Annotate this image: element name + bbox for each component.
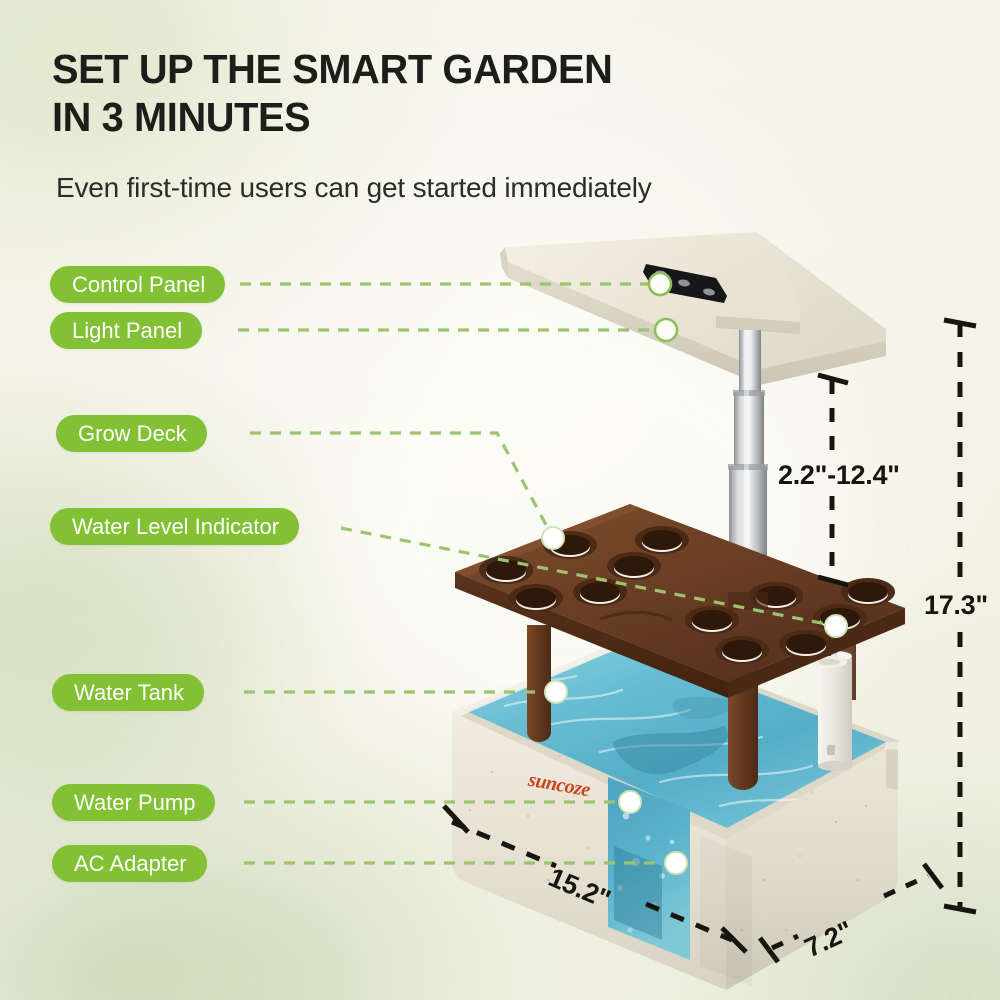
dim-depth-line-right xyxy=(884,876,928,896)
dim-pole-cap-bottom xyxy=(818,577,848,585)
dim-length-line-right xyxy=(646,904,732,940)
dimension-total-height: 17.3" xyxy=(924,590,988,621)
dim-height-cap-top xyxy=(944,320,976,326)
dim-depth-cap-right xyxy=(924,864,942,888)
dim-length-cap-left xyxy=(444,806,468,832)
dim-height-cap-bottom xyxy=(944,906,976,912)
dim-depth-line-left xyxy=(772,936,798,948)
dim-depth-cap-left xyxy=(760,938,778,962)
dimension-pole-height: 2.2"-12.4" xyxy=(778,460,900,491)
dimension-lines xyxy=(0,0,1000,1000)
